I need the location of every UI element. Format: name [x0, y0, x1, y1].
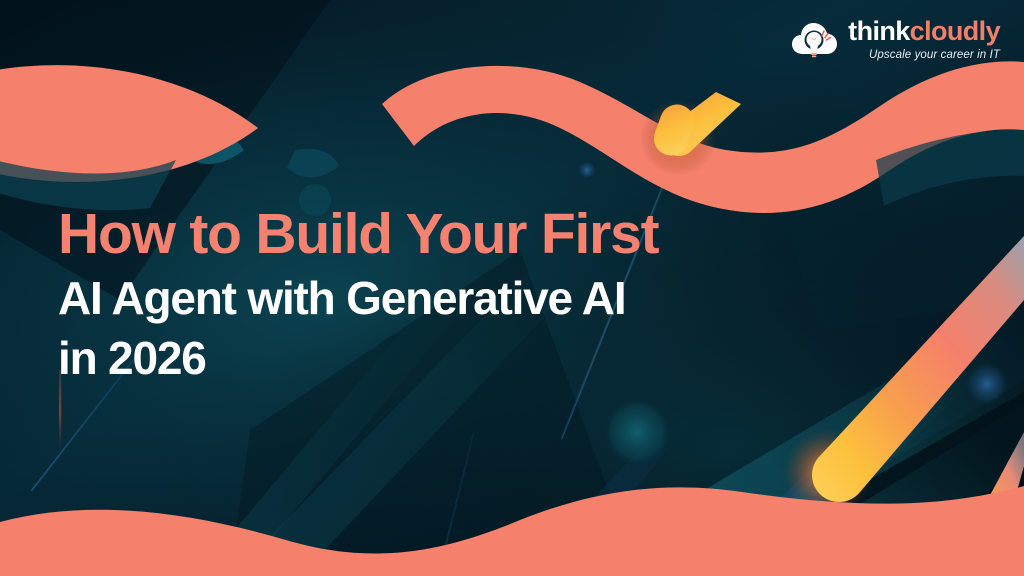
- headline-line-3: in 2026: [58, 335, 658, 381]
- blue-dot: [578, 161, 596, 179]
- teal-circle: [603, 398, 671, 466]
- banner-canvas: thinkcloudly Upscale your career in IT H…: [0, 0, 1024, 576]
- page-title: How to Build Your First AI Agent with Ge…: [58, 206, 658, 381]
- brand-wordmark: thinkcloudly: [848, 18, 1000, 45]
- cloud-lightbulb-icon: [791, 18, 839, 62]
- wordmark-think: think: [848, 16, 910, 46]
- wordmark-cloudly: cloudly: [910, 16, 1000, 46]
- brand-logo[interactable]: thinkcloudly Upscale your career in IT: [791, 18, 1000, 62]
- headline-line-1: How to Build Your First: [58, 206, 658, 263]
- headline-line-2: AI Agent with Generative AI: [58, 275, 658, 321]
- brand-tagline: Upscale your career in IT: [869, 50, 1000, 62]
- blue-dot: [965, 362, 1009, 406]
- brand-logo-text: thinkcloudly Upscale your career in IT: [848, 18, 1000, 62]
